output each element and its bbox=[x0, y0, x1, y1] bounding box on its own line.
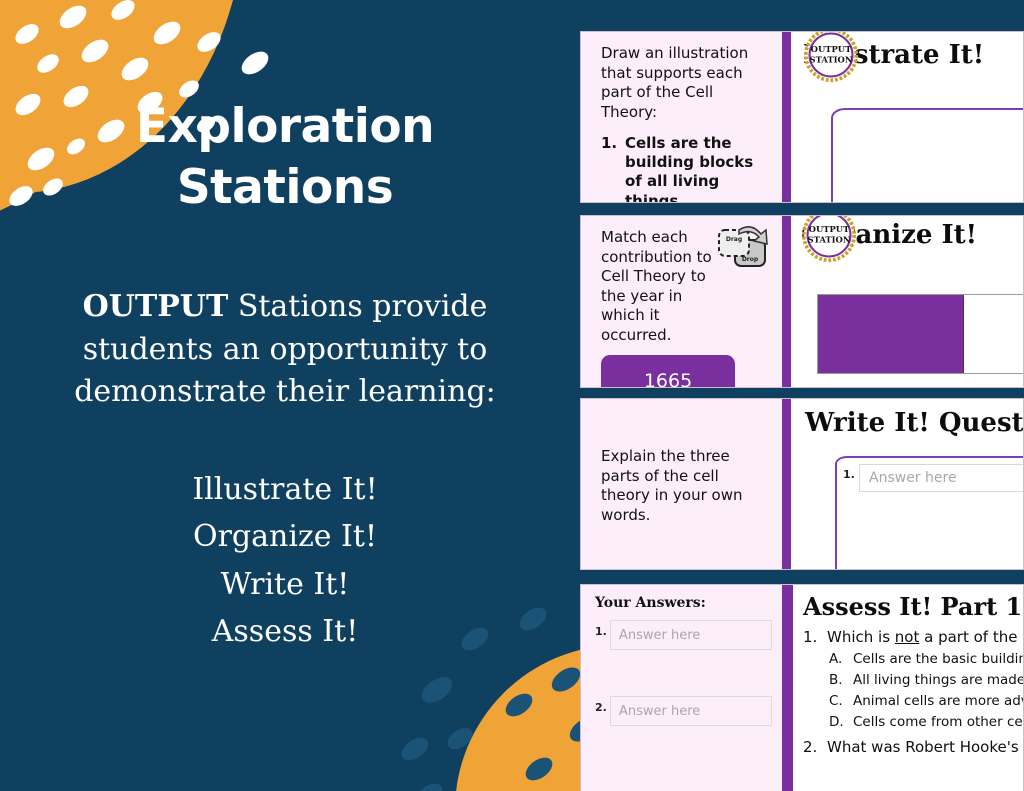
quiz-option[interactable]: B. All living things are made up bbox=[829, 672, 1024, 688]
card-content-panel: OUTPUT STATION Illustrate It! bbox=[782, 32, 1023, 202]
preview-card-write[interactable]: Explain the three parts of the cell theo… bbox=[580, 398, 1024, 570]
preview-card-organize[interactable]: Match each contribution to Cell Theory t… bbox=[580, 215, 1024, 388]
quiz-option[interactable]: C. Animal cells are more advanc bbox=[829, 693, 1024, 709]
preview-card-stack: Draw an illustration that supports each … bbox=[580, 0, 1024, 791]
question-text-pre: Which is bbox=[827, 628, 895, 646]
quiz-option[interactable]: D. Cells come from other cells. bbox=[829, 714, 1024, 730]
option-letter: C. bbox=[829, 693, 853, 709]
card-content-panel: OUTPUT STATION Organize It! Schwa on the… bbox=[782, 216, 1023, 387]
card-prompt-text: Draw an illustration that supports each … bbox=[601, 44, 770, 122]
option-letter: A. bbox=[829, 651, 853, 667]
preview-card-illustrate[interactable]: Draw an illustration that supports each … bbox=[580, 31, 1024, 203]
quiz-question-next: 2. What was Robert Hooke's c bbox=[803, 738, 1024, 756]
card-content-panel: Assess It! Part 1 1. Which is not a part… bbox=[782, 585, 1024, 791]
answer-input[interactable]: Answer here bbox=[610, 620, 772, 650]
station-list-item: Illustrate It! bbox=[25, 466, 545, 513]
card-prompt-text: Explain the three parts of the cell theo… bbox=[601, 447, 770, 525]
list-item-number: 1. bbox=[601, 134, 625, 203]
answer-row-spacer bbox=[595, 650, 772, 696]
drag-and-drop-icon: Drop Drag bbox=[713, 222, 773, 278]
matching-drop-target[interactable] bbox=[818, 295, 964, 373]
matching-table[interactable]: Schwa on the buildin are bbox=[817, 294, 1024, 374]
white-dot-pattern bbox=[0, 0, 290, 240]
svg-text:STATION: STATION bbox=[810, 54, 853, 64]
card-prompt-panel: Draw an illustration that supports each … bbox=[581, 32, 782, 202]
svg-text:OUTPUT: OUTPUT bbox=[809, 224, 850, 234]
quiz-option[interactable]: A. Cells are the basic building bl bbox=[829, 651, 1024, 667]
card-prompt-panel: Explain the three parts of the cell theo… bbox=[581, 399, 782, 569]
answer-number: 1. bbox=[843, 464, 859, 481]
card-title: Write It! Question bbox=[791, 399, 1024, 438]
answer-input[interactable]: Answer here bbox=[610, 696, 772, 726]
station-list-item: Organize It! bbox=[25, 513, 545, 560]
card-content-panel: Write It! Question 1. Answer here bbox=[782, 399, 1024, 569]
answer-list: 1. Answer here 2. Answer here bbox=[595, 620, 772, 726]
question-text: What was Robert Hooke's c bbox=[827, 738, 1024, 756]
answer-row: 2. Answer here bbox=[595, 696, 772, 726]
intro-rest-text: Stations provide students an opportunity… bbox=[74, 289, 496, 409]
option-text: Cells come from other cells. bbox=[853, 714, 1024, 730]
year-chip[interactable]: 1665 bbox=[601, 355, 735, 388]
intro-paragraph: OUTPUT Stations provide students an oppo… bbox=[25, 286, 545, 414]
svg-text:STATION: STATION bbox=[808, 234, 851, 244]
question-text-emphasis: not bbox=[895, 628, 920, 646]
question-text-post: a part of the c bbox=[919, 628, 1024, 646]
output-station-seal-icon: OUTPUT STATION bbox=[801, 215, 857, 263]
svg-text:Drop: Drop bbox=[742, 256, 759, 263]
question-number: 2. bbox=[803, 738, 827, 756]
option-letter: B. bbox=[829, 672, 853, 688]
intro-bold-word: OUTPUT bbox=[83, 289, 229, 324]
answer-input[interactable]: Answer here bbox=[859, 464, 1024, 492]
output-station-seal-icon: OUTPUT STATION bbox=[803, 31, 859, 83]
svg-text:Drag: Drag bbox=[726, 236, 742, 243]
question-number: 1. bbox=[803, 628, 827, 646]
answer-number: 1. bbox=[595, 620, 610, 638]
list-item-text: Cells are the building blocks of all liv… bbox=[625, 134, 770, 203]
option-text: Cells are the basic building bl bbox=[853, 651, 1024, 667]
drawing-area[interactable] bbox=[831, 108, 1024, 203]
card-prompt-list-item: 1. Cells are the building blocks of all … bbox=[601, 134, 770, 203]
matching-table-text: Schwa on the buildin are bbox=[964, 295, 1024, 373]
option-text: All living things are made up bbox=[853, 672, 1024, 688]
option-letter: D. bbox=[829, 714, 853, 730]
answer-row: 1. Answer here bbox=[595, 620, 772, 650]
option-text: Animal cells are more advanc bbox=[853, 693, 1024, 709]
slide-canvas: Exploration Stations OUTPUT Stations pro… bbox=[0, 0, 1024, 791]
your-answers-label: Your Answers: bbox=[595, 595, 772, 611]
card-prompt-panel: Match each contribution to Cell Theory t… bbox=[581, 216, 782, 387]
card-prompt-panel: Your Answers: 1. Answer here 2. Answer h… bbox=[581, 585, 782, 791]
quiz-question: 1. Which is not a part of the c bbox=[803, 628, 1024, 646]
answer-number: 2. bbox=[595, 696, 610, 714]
preview-card-assess[interactable]: Your Answers: 1. Answer here 2. Answer h… bbox=[580, 584, 1024, 791]
answer-area: 1. Answer here bbox=[835, 456, 1024, 570]
svg-text:OUTPUT: OUTPUT bbox=[811, 44, 852, 54]
card-title: Assess It! Part 1 bbox=[803, 592, 1024, 621]
card-prompt-text: Match each contribution to Cell Theory t… bbox=[601, 228, 719, 345]
